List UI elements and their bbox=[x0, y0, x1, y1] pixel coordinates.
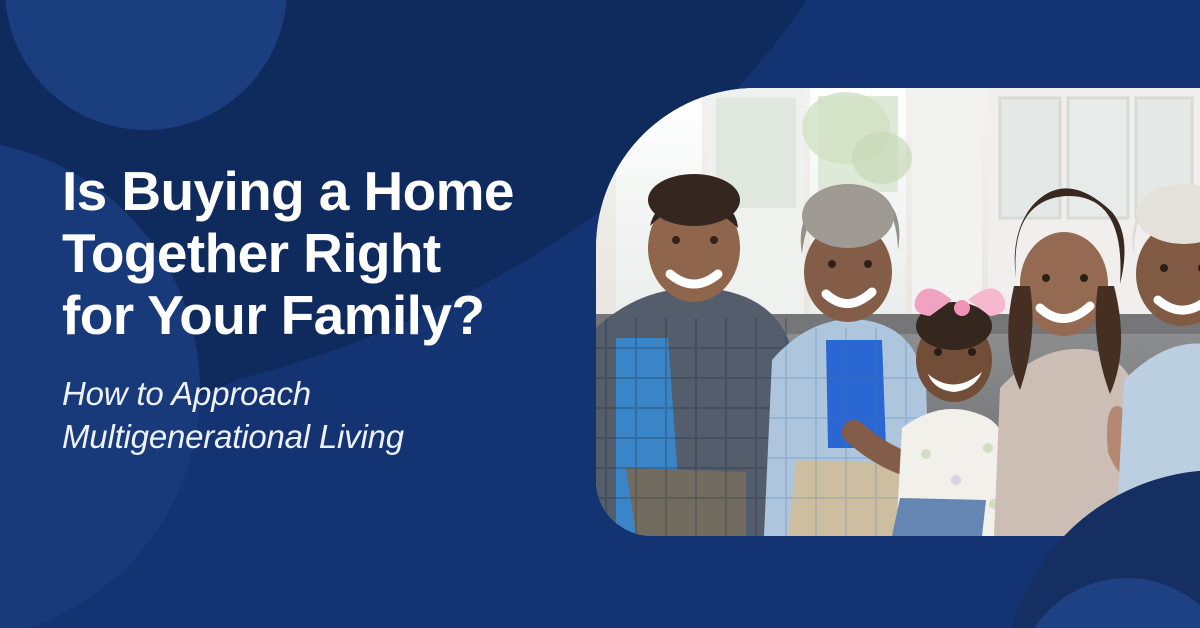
subheadline: How to Approach Multigenerational Living bbox=[62, 372, 582, 458]
hero-banner: Is Buying a Home Together Right for Your… bbox=[0, 0, 1200, 628]
family-photo-illustration bbox=[596, 88, 1200, 536]
family-photo-image bbox=[596, 88, 1200, 536]
text-block: Is Buying a Home Together Right for Your… bbox=[62, 160, 582, 458]
family-photo bbox=[596, 88, 1200, 536]
headline: Is Buying a Home Together Right for Your… bbox=[62, 160, 582, 346]
